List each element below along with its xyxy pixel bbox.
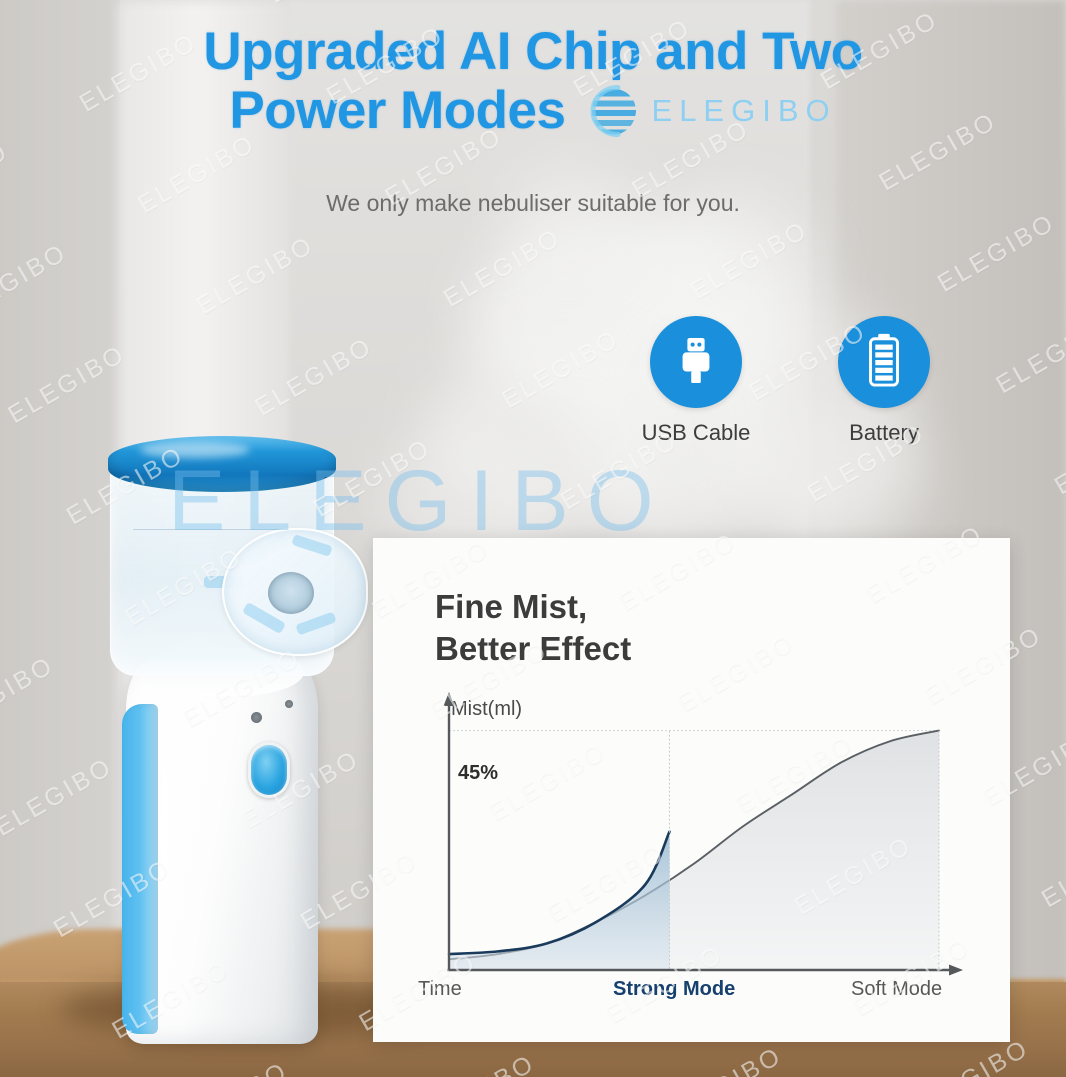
- product-nebuliser-image: [96, 436, 396, 1056]
- power-mode-usb: USB Cable: [626, 316, 766, 446]
- product-marketing-image: ELEGIBO Upgraded AI Chip and Two Power M…: [0, 0, 1066, 1077]
- device-led-indicator: [251, 712, 262, 723]
- brand-name: ELEGIBO: [652, 93, 837, 129]
- usb-plug-icon: [673, 333, 719, 392]
- chart-title-line-1: Fine Mist,: [435, 586, 631, 628]
- battery-icon-circle: [838, 316, 930, 408]
- globe-stripes-icon: [588, 85, 640, 137]
- battery-icon: [864, 332, 904, 393]
- headline-block: Upgraded AI Chip and Two Power Modes: [0, 22, 1066, 141]
- device-led-indicator: [285, 700, 293, 708]
- chart-plot-area: [423, 688, 983, 998]
- subtitle-text: We only make nebuliser suitable for you.: [0, 190, 1066, 217]
- cap-highlight: [140, 442, 250, 458]
- chart-card-title: Fine Mist, Better Effect: [435, 586, 631, 669]
- power-modes-group: USB Cable Battery: [620, 316, 960, 446]
- chart-title-line-2: Better Effect: [435, 628, 631, 670]
- mist-blob: [500, 160, 640, 280]
- x-axis-tick-labels: Time Strong Mode Soft Mode: [413, 978, 993, 1012]
- mist-output-line-chart: [423, 688, 983, 998]
- battery-label: Battery: [814, 420, 954, 446]
- x-tick-soft-mode: Soft Mode: [851, 978, 942, 1001]
- usb-icon-circle: [650, 316, 742, 408]
- brand-logo: ELEGIBO: [588, 85, 837, 137]
- device-power-button: [248, 742, 290, 798]
- x-tick-strong-mode: Strong Mode: [613, 978, 735, 1001]
- device-blue-stripe: [122, 704, 158, 1034]
- headline-line-2: Power Modes: [229, 81, 565, 140]
- mouthpiece-opening: [268, 572, 314, 614]
- x-tick-time: Time: [418, 978, 462, 1001]
- headline-line-1: Upgraded AI Chip and Two: [0, 22, 1066, 81]
- power-mode-battery: Battery: [814, 316, 954, 446]
- chart-card: Fine Mist, Better Effect Mist(ml) 45%: [373, 538, 1010, 1042]
- usb-label: USB Cable: [626, 420, 766, 446]
